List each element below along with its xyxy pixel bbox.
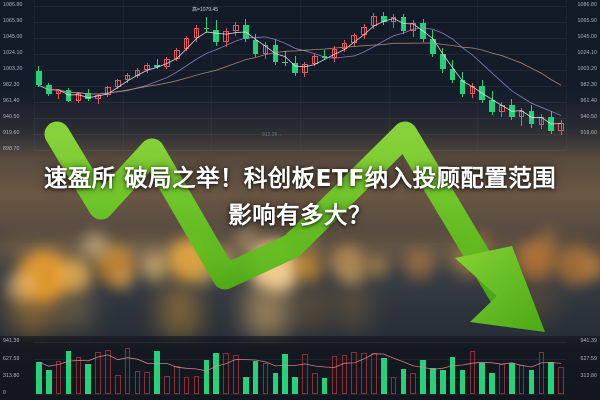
headline-line-2: 影响有多大？ <box>0 197 600 234</box>
stock-news-banner: 1086.801065.901045.001024.101003.20982.3… <box>0 0 600 400</box>
arrow-head <box>455 246 545 332</box>
headline-line-1: 速盈所 破局之举！科创板ETF纳入投顾配置范围 <box>44 164 556 192</box>
headline: 速盈所 破局之举！科创板ETF纳入投顾配置范围 影响有多大？ <box>0 160 600 234</box>
